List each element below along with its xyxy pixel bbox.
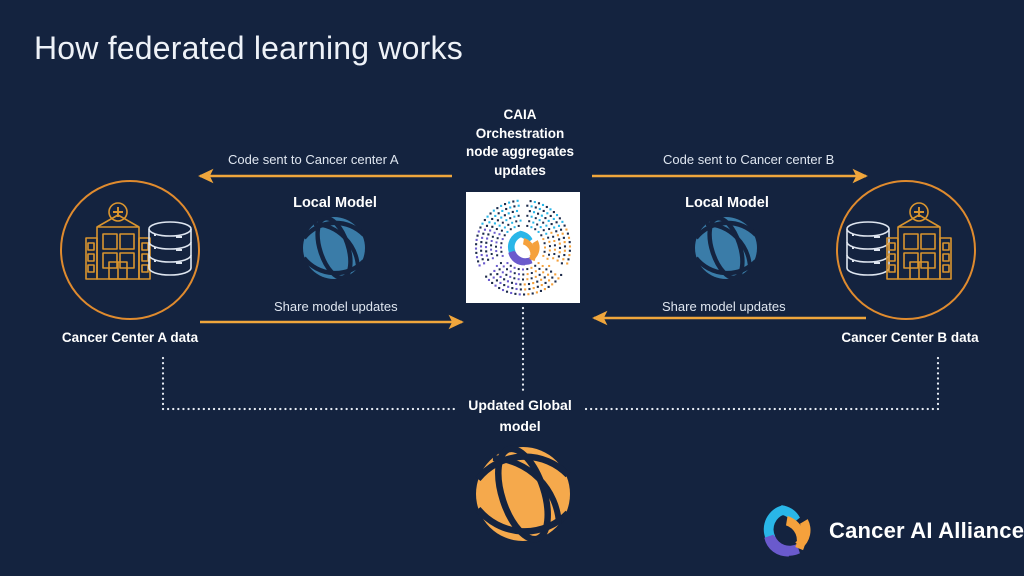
caption-line-0: Updated Global — [455, 395, 585, 416]
caption-line-2: node aggregates — [455, 143, 585, 162]
brand-name: Cancer AI Alliance — [829, 518, 1024, 544]
arrow-label-code-to-center-a: Code sent to Cancer center A — [228, 152, 399, 167]
hospital-icon — [86, 203, 150, 279]
dotted-connector-right — [586, 358, 938, 409]
diagram-canvas: How federated learning works — [0, 0, 1024, 576]
caia-swirl-icon — [508, 231, 540, 266]
local-model-label-a: Local Model — [270, 195, 400, 211]
global-model-globe-icon — [476, 443, 570, 545]
caia-node-caption: CAIAOrchestrationnode aggregatesupdates — [455, 106, 585, 180]
dotted-connector-left — [163, 358, 455, 409]
hospital-icon — [887, 203, 951, 279]
caia-logo-icon — [466, 192, 580, 303]
cancer-center-b-ring — [837, 181, 975, 319]
local-model-label-b: Local Model — [662, 195, 792, 211]
cancer-center-b-label: Cancer Center B data — [810, 330, 1010, 345]
database-icon — [149, 222, 191, 275]
database-icon — [847, 222, 889, 275]
arrow-label-share-updates-a: Share model updates — [274, 299, 398, 314]
caption-line-0: CAIA — [455, 106, 585, 125]
cancer-ai-alliance-logo-icon — [757, 503, 815, 558]
local-model-globe-icon — [695, 214, 757, 282]
arrow-label-code-to-center-b: Code sent to Cancer center B — [663, 152, 834, 167]
updated-global-model-label: Updated Globalmodel — [455, 395, 585, 437]
caption-line-1: model — [455, 416, 585, 437]
caia-orchestration-node-panel[interactable] — [466, 192, 580, 303]
caption-line-3: updates — [455, 162, 585, 181]
arrow-label-share-updates-b: Share model updates — [662, 299, 786, 314]
brand-logo: Cancer AI Alliance — [757, 503, 1024, 558]
local-model-globe-icon — [303, 214, 365, 282]
cancer-center-a-label: Cancer Center A data — [30, 330, 230, 345]
caption-line-1: Orchestration — [455, 125, 585, 144]
